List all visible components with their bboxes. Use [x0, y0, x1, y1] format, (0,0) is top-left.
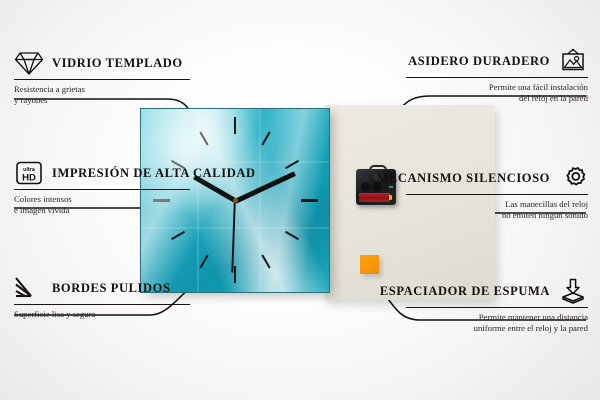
feature-title: ESPACIADOR DE ESPUMA: [380, 284, 550, 299]
feature-divider: [406, 77, 588, 78]
feature-impresion-alta-calidad: ultra HD IMPRESIÓN DE ALTA CALIDAD Color…: [14, 160, 190, 217]
feature-bordes-pulidos: BORDES PULIDOS Superficie lisa y segura: [14, 275, 190, 320]
svg-text:HD: HD: [22, 173, 36, 184]
ultra-hd-badge-icon: ultra HD: [14, 160, 44, 186]
foam-spacer-arrow-icon: [558, 278, 588, 304]
clock-tick-12: [234, 117, 236, 134]
foam-spacer-sample: [360, 255, 379, 274]
feature-description: Superficie lisa y segura: [14, 309, 190, 320]
gear-icon: [558, 165, 588, 191]
feature-espaciador-de-espuma: ESPACIADOR DE ESPUMA Permite mantener un…: [406, 278, 588, 335]
feature-title: IMPRESIÓN DE ALTA CALIDAD: [52, 166, 256, 181]
clock-tick-5: [261, 255, 270, 269]
feature-description: Permite una fácil instalación del reloj …: [406, 82, 588, 105]
feature-header: BORDES PULIDOS: [14, 275, 190, 301]
feature-mecanismo-silencioso: MECANISMO SILENCIOSO Las manecillas del …: [406, 165, 588, 222]
movement-indicator: [389, 186, 393, 188]
clock-grid-line: [259, 109, 261, 292]
feature-header: VIDRIO TEMPLADO: [14, 50, 190, 76]
feature-description: Colores intensos e imagen vívida: [14, 194, 190, 217]
feature-divider: [14, 79, 190, 80]
infographic-stage: VIDRIO TEMPLADO Resistencia a grietas y …: [0, 0, 600, 400]
feature-description: Las manecillas del reloj no emiten ningú…: [406, 199, 588, 222]
clock-grid-line: [141, 227, 329, 229]
feature-header: MECANISMO SILENCIOSO: [406, 165, 588, 191]
feature-description: Resistencia a grietas y rayones: [14, 84, 190, 107]
feature-vidrio-templado: VIDRIO TEMPLADO Resistencia a grietas y …: [14, 50, 190, 107]
feature-title: VIDRIO TEMPLADO: [52, 56, 183, 71]
feature-title: ASIDERO DURADERO: [408, 54, 550, 69]
feature-asidero-duradero: ASIDERO DURADERO Permite una fácil insta…: [406, 48, 588, 105]
feature-header: ultra HD IMPRESIÓN DE ALTA CALIDAD: [14, 160, 190, 186]
clock-tick-7: [199, 255, 208, 269]
clock-tick-11: [199, 132, 208, 146]
polished-edges-icon: [14, 275, 44, 301]
feature-title: BORDES PULIDOS: [52, 281, 171, 296]
diamond-icon: [14, 50, 44, 76]
feature-divider: [14, 304, 190, 305]
framed-picture-hanger-icon: [558, 48, 588, 74]
feature-divider: [406, 307, 588, 308]
feature-description: Permite mantener una distancia uniforme …: [406, 312, 588, 335]
feature-divider: [406, 194, 588, 195]
clock-tick-6: [234, 266, 236, 283]
movement-battery: [359, 193, 390, 202]
clock-tick-3: [301, 199, 318, 202]
clock-tick-1: [261, 132, 270, 146]
feature-header: ESPACIADOR DE ESPUMA: [406, 278, 588, 304]
movement-detail: [361, 174, 369, 180]
clock-tick-8: [171, 231, 185, 240]
movement-detail: [361, 182, 370, 191]
clock-center-cap: [233, 198, 238, 203]
feature-title: MECANISMO SILENCIOSO: [377, 171, 551, 186]
clock-grid-line: [197, 109, 199, 292]
feature-header: ASIDERO DURADERO: [406, 48, 588, 74]
clock-tick-4: [285, 231, 299, 240]
clock-second-hand: [232, 200, 236, 272]
feature-divider: [14, 189, 190, 190]
